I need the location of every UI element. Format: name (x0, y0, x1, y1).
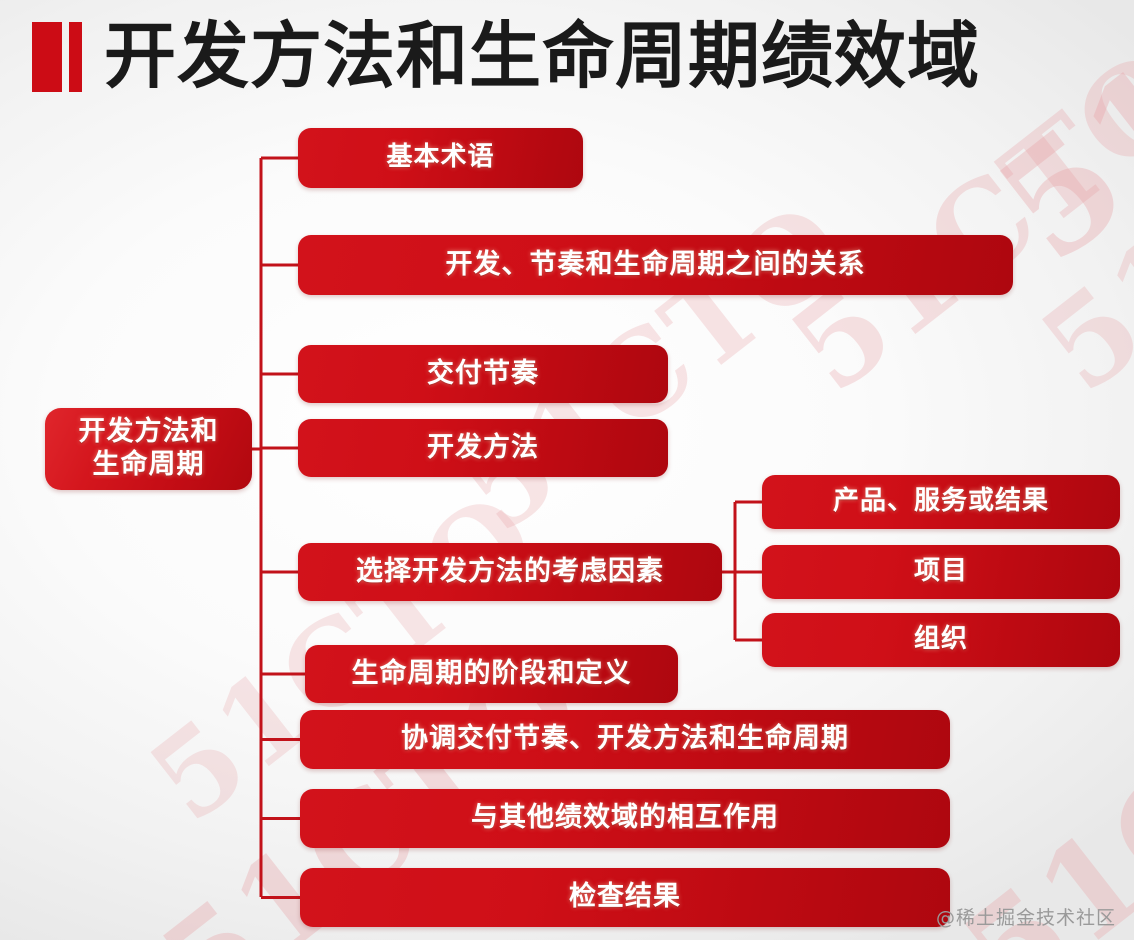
mindmap-branch-node-label: 与其他绩效域的相互作用 (471, 802, 779, 835)
mindmap-branch-node-label: 开发、节奏和生命周期之间的关系 (446, 249, 866, 282)
mindmap-root-node[interactable]: 开发方法和 生命周期 (45, 408, 252, 490)
mindmap-branch-node-label: 选择开发方法的考虑因素 (356, 556, 664, 589)
mindmap-branch-node[interactable]: 开发方法 (298, 419, 668, 477)
mindmap-sub-branch-node[interactable]: 组织 (762, 613, 1120, 667)
mindmap-sub-branch-node-label: 项目 (914, 556, 968, 588)
mindmap-branch-node-label: 开发方法 (427, 432, 539, 465)
mindmap-branch-node-label: 基本术语 (386, 142, 494, 174)
mindmap-branch-node[interactable]: 检查结果 (300, 868, 950, 927)
mindmap-branch-node-label: 生命周期的阶段和定义 (352, 658, 632, 691)
mindmap-branch-node-label: 检查结果 (569, 881, 681, 914)
title-marker-icon (32, 22, 82, 92)
mindmap-sub-branch-node-label: 产品、服务或结果 (833, 486, 1049, 518)
page-title: 开发方法和生命周期绩效域 (104, 20, 980, 92)
mindmap-sub-branch-node[interactable]: 项目 (762, 545, 1120, 599)
mindmap-branch-node-label: 交付节奏 (427, 358, 539, 391)
mindmap-root-node-label: 开发方法和 生命周期 (79, 416, 219, 482)
mindmap-branch-node-label: 协调交付节奏、开发方法和生命周期 (401, 723, 849, 756)
mindmap-branch-node[interactable]: 基本术语 (298, 128, 583, 188)
mindmap-branch-node[interactable]: 开发、节奏和生命周期之间的关系 (298, 235, 1013, 295)
page-header: 开发方法和生命周期绩效域 (0, 0, 1134, 112)
mindmap-sub-branch-node-label: 组织 (914, 624, 968, 656)
mindmap-branch-node[interactable]: 协调交付节奏、开发方法和生命周期 (300, 710, 950, 769)
footer-credit: @稀土掘金技术社区 (936, 903, 1116, 930)
mindmap-branch-node[interactable]: 与其他绩效域的相互作用 (300, 789, 950, 848)
mindmap-branch-node[interactable]: 生命周期的阶段和定义 (305, 645, 678, 703)
mindmap-branch-node[interactable]: 选择开发方法的考虑因素 (298, 543, 722, 601)
mindmap-branch-node[interactable]: 交付节奏 (298, 345, 668, 403)
mindmap-sub-branch-node[interactable]: 产品、服务或结果 (762, 475, 1120, 529)
mindmap-canvas: 51CTO 51CTO 51CTO 51CTO 51CTO 51CTO 51CT… (0, 0, 1134, 940)
